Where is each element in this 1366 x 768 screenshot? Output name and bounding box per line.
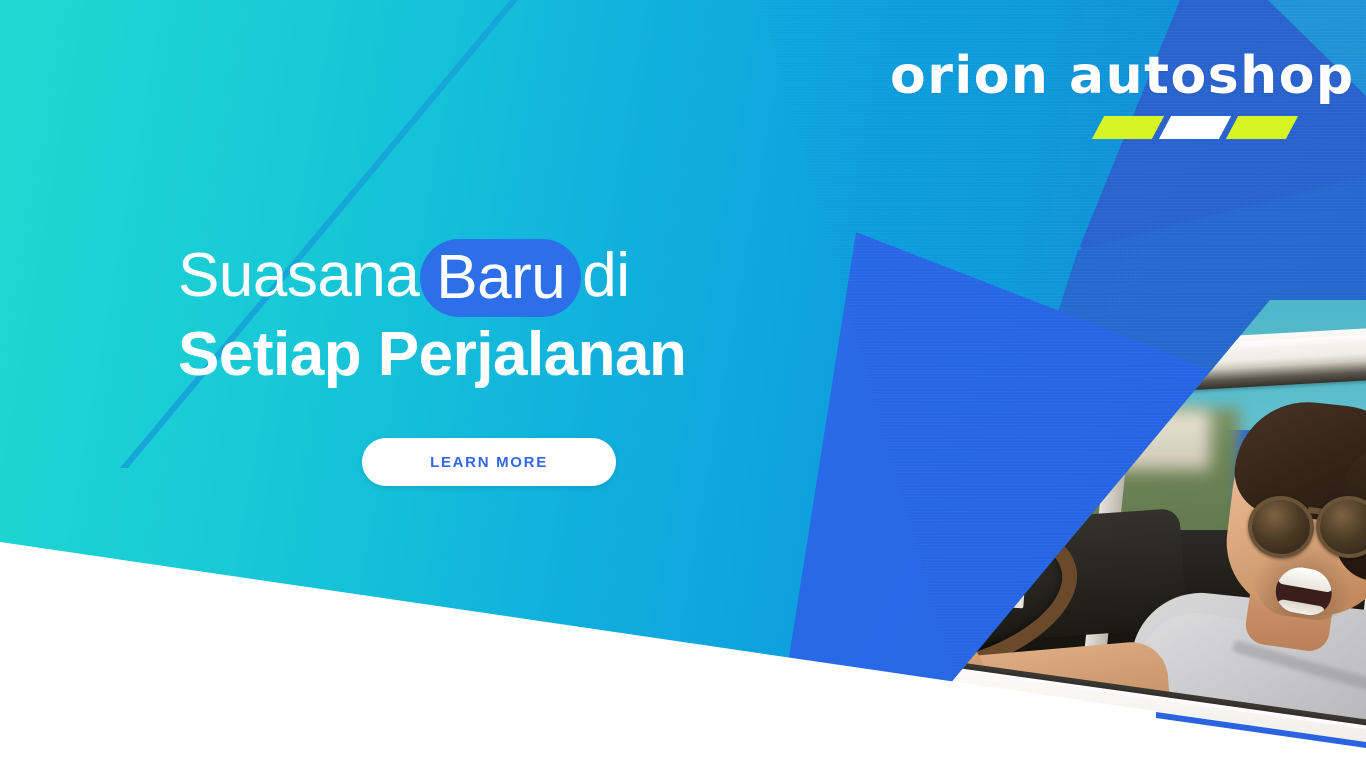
- learn-more-button[interactable]: LEARN MORE: [362, 438, 616, 486]
- brand-bar-white-middle: [1159, 116, 1231, 139]
- brand-bar-lime-right: [1226, 116, 1298, 139]
- brand-logo[interactable]: orion autoshop: [890, 50, 1300, 160]
- hero-banner: orion autoshop SuasanaBarudi Setiap Perj…: [0, 0, 1366, 768]
- headline-word-di: di: [582, 241, 629, 310]
- brand-wordmark: orion autoshop: [890, 50, 1300, 102]
- headline-line-2: Setiap Perjalanan: [178, 316, 818, 394]
- headline-line-1: SuasanaBarudi: [178, 234, 818, 318]
- brand-accent-bars: [890, 116, 1300, 139]
- headline-highlight-baru: Baru: [420, 239, 581, 317]
- headline-block: SuasanaBarudi Setiap Perjalanan: [178, 234, 818, 394]
- headline-word-suasana: Suasana: [178, 241, 419, 310]
- brand-bar-lime-left: [1092, 116, 1164, 139]
